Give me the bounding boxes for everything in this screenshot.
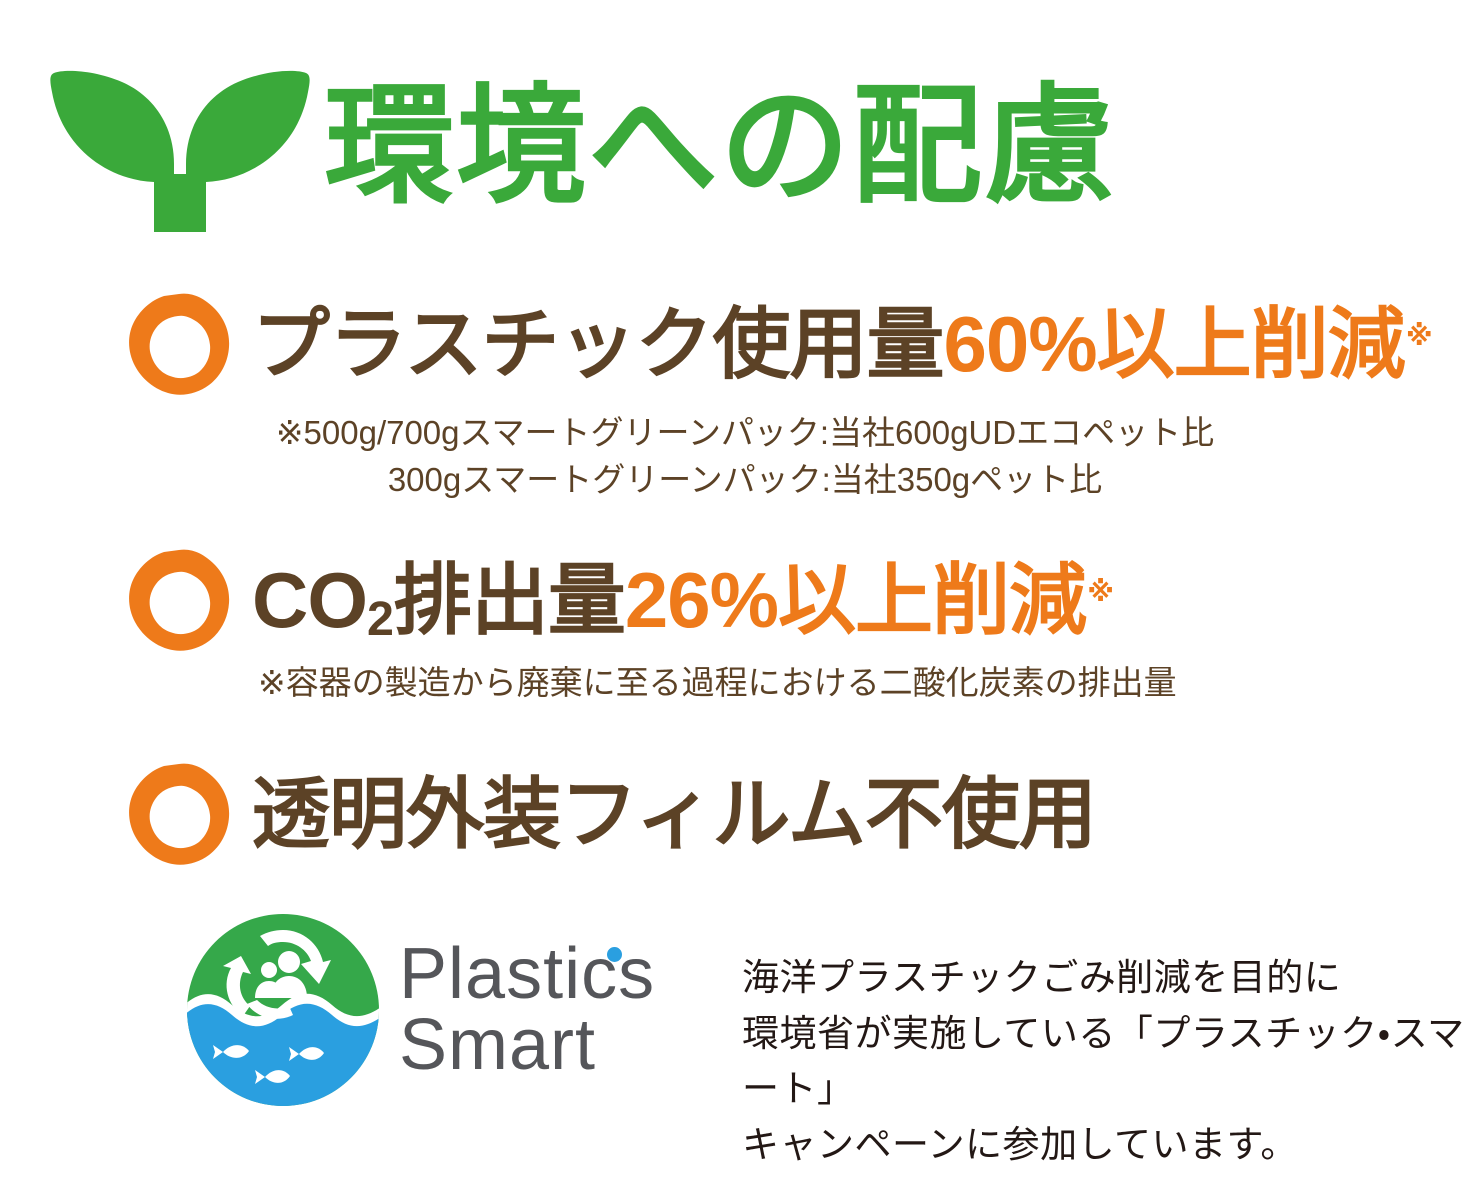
bullet-label-brown: プラスチック使用量 xyxy=(252,300,943,388)
bullet-label-orange: 26%以上削減 xyxy=(625,556,1086,644)
sprout-icon xyxy=(50,56,310,236)
logo-word-smart: Smart xyxy=(399,1010,655,1081)
footnote-mark-icon: ※ xyxy=(1406,320,1433,351)
logo-word-plastics: Plastics xyxy=(399,939,655,1010)
bullet-label-co2-subscript: 2 xyxy=(367,592,394,646)
ring-icon xyxy=(126,292,230,396)
footnote-plastic-reduction: ※500g/700gスマートグリーンパック:当社600gUDエコペット比 300… xyxy=(250,410,1240,504)
bullet-label-emission: 排出量 xyxy=(394,556,625,644)
campaign-description: 海洋プラスチックごみ削減を目的に 環境省が実施している「プラスチック・スマート」… xyxy=(742,950,1470,1172)
ring-icon xyxy=(126,548,230,652)
plastics-smart-globe-icon xyxy=(185,912,381,1108)
plastics-smart-logo: Plastics Smart xyxy=(185,912,655,1108)
plastics-smart-wordmark: Plastics Smart xyxy=(399,939,655,1080)
bullet-label-no-film: 透明外装フィルム不使用 xyxy=(252,775,1096,853)
bullet-label-brown: 透明外装フィルム不使用 xyxy=(252,770,1096,858)
bullet-row-plastic-reduction: プラスチック使用量60%以上削減※ xyxy=(126,292,1431,396)
page-header: 環境への配慮 xyxy=(0,46,1470,246)
page-title: 環境への配慮 xyxy=(324,81,1116,211)
bullet-label-co: CO xyxy=(252,556,367,644)
logo-word-plastics-text: Plastics xyxy=(399,934,655,1014)
ring-icon xyxy=(126,762,230,866)
footnote-mark-icon: ※ xyxy=(1087,576,1114,607)
footnote-co2-reduction: ※容器の製造から廃棄に至る過程における二酸化炭素の排出量 xyxy=(258,660,1358,707)
bullet-label-co2-reduction: CO2排出量26%以上削減※ xyxy=(252,561,1113,639)
bullet-row-no-film: 透明外装フィルム不使用 xyxy=(126,762,1096,866)
bullet-label-plastic-reduction: プラスチック使用量60%以上削減※ xyxy=(252,305,1431,383)
bullet-row-co2-reduction: CO2排出量26%以上削減※ xyxy=(126,548,1113,652)
bullet-label-orange: 60%以上削減 xyxy=(943,300,1404,388)
